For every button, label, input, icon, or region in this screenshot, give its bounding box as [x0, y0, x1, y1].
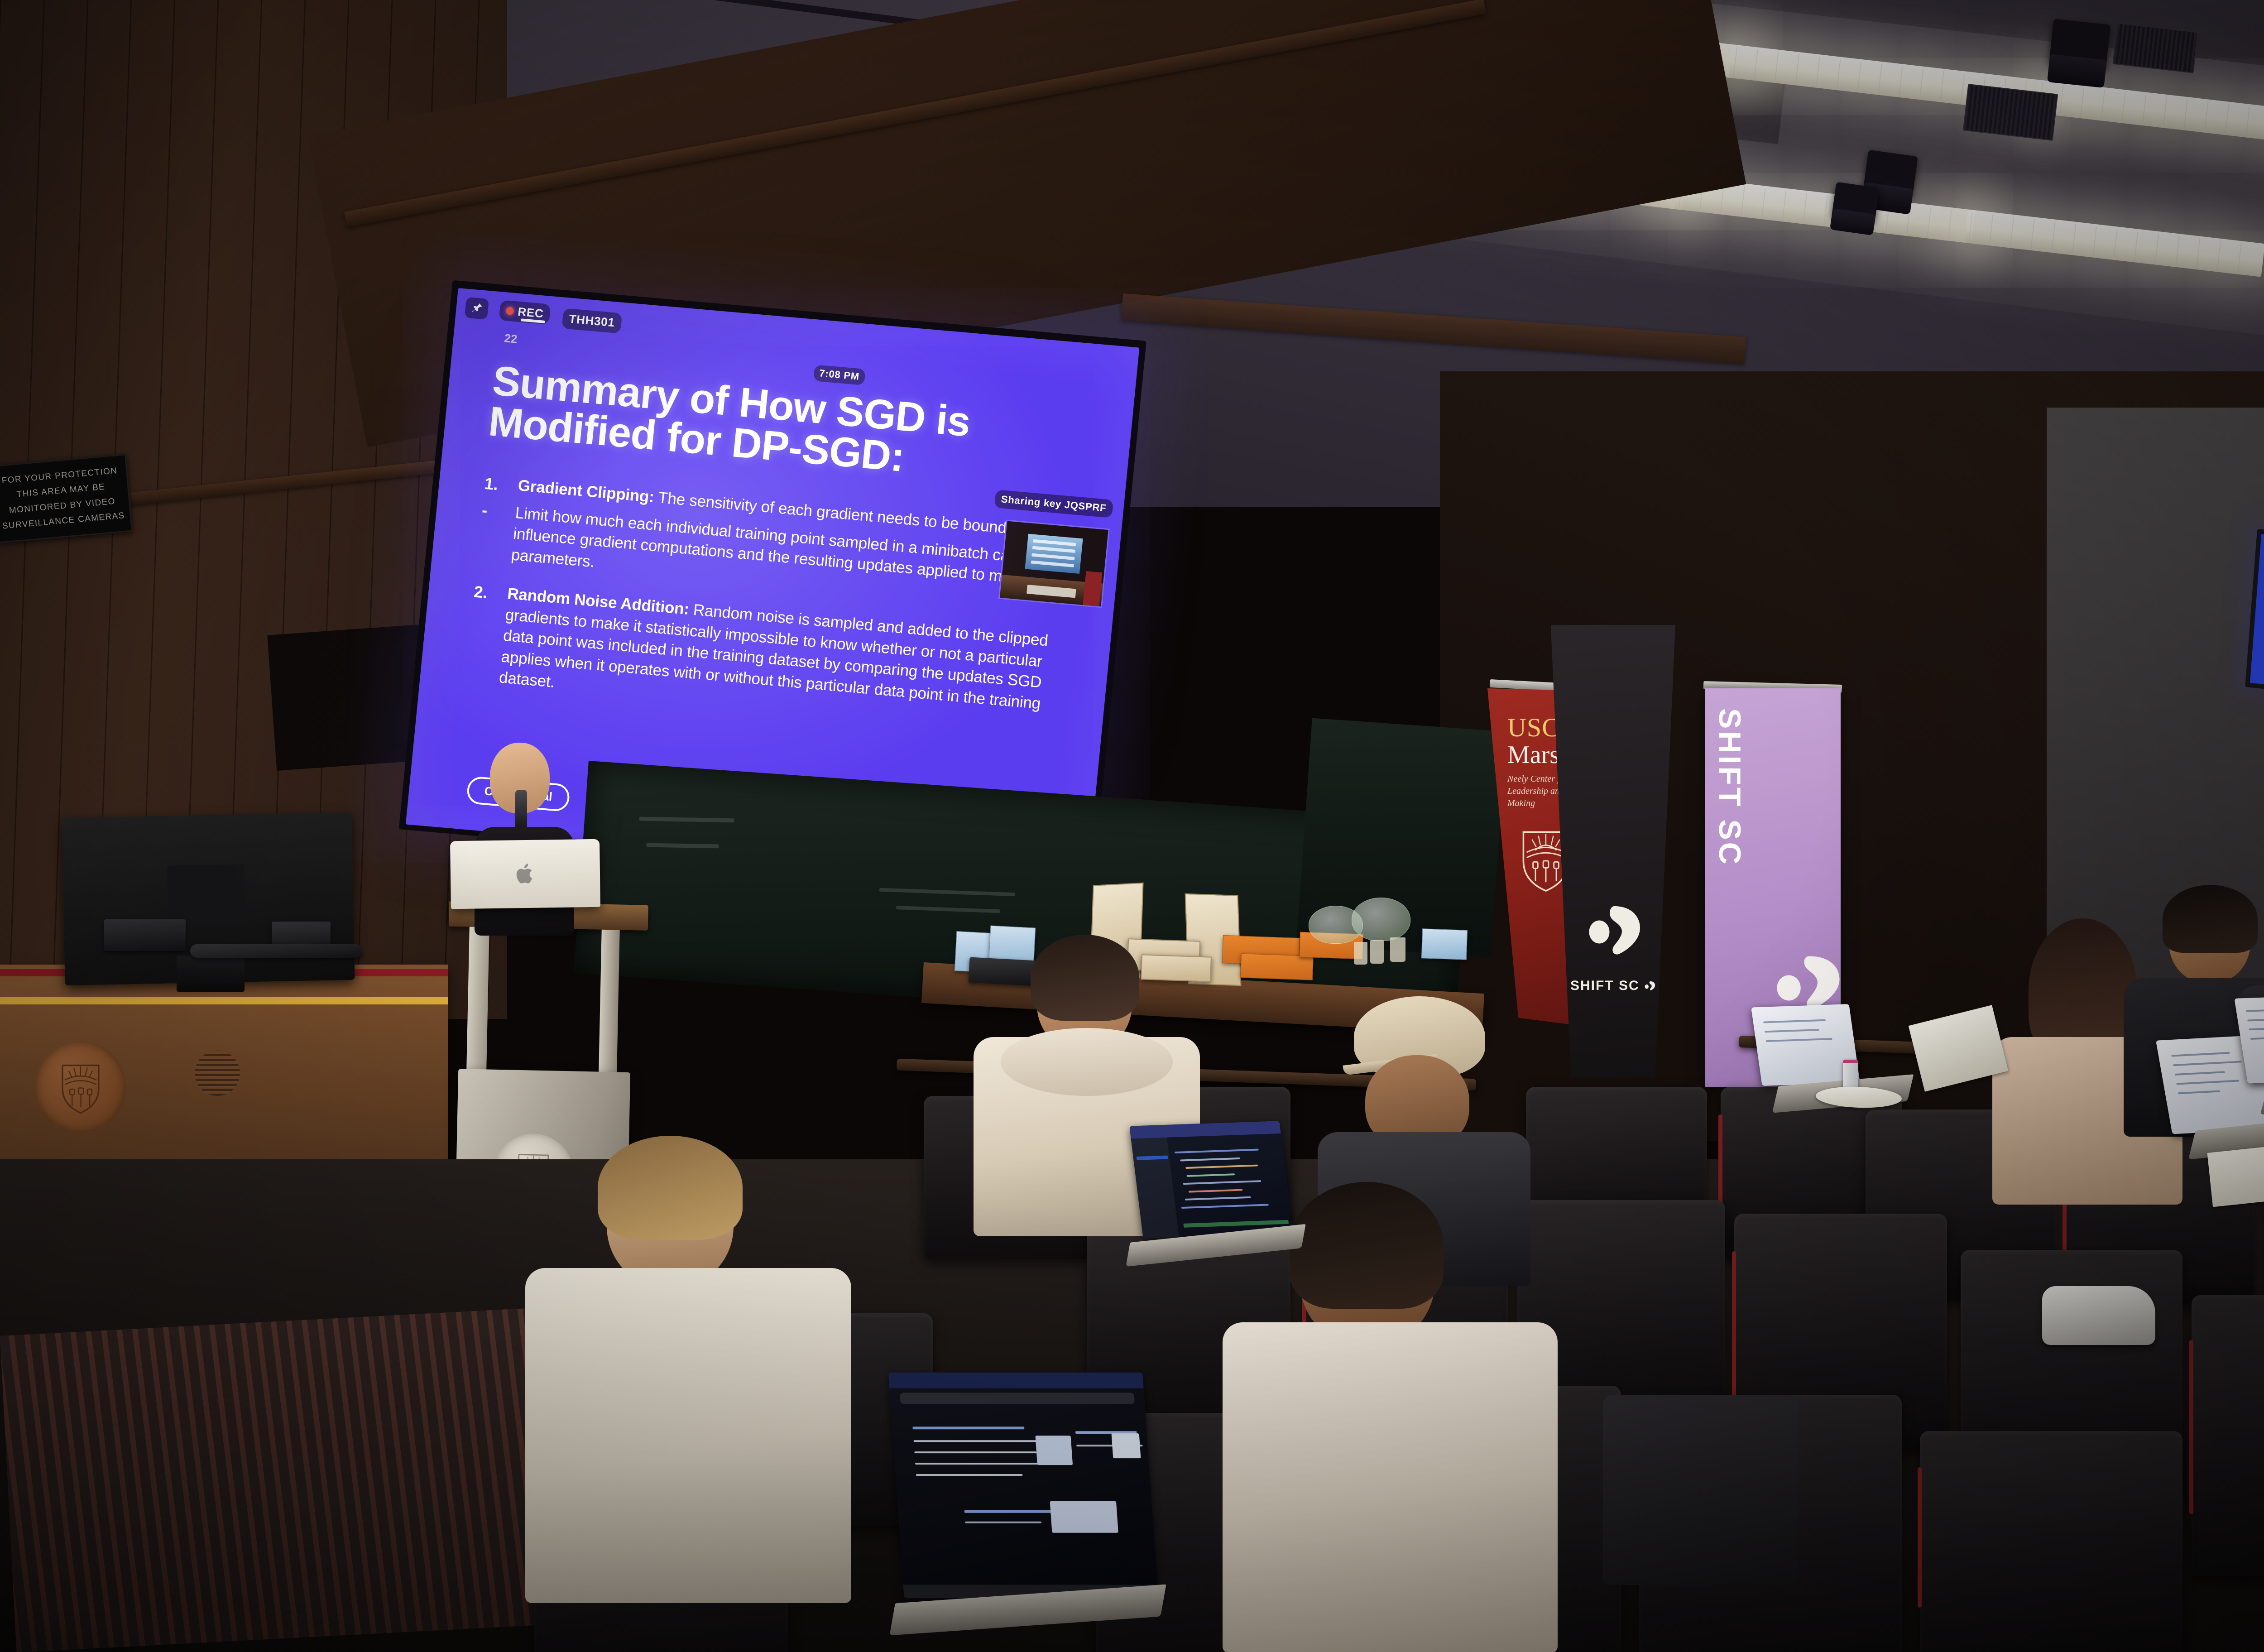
document-line — [1763, 1019, 1826, 1023]
person-hair — [598, 1136, 743, 1240]
record-dot-icon — [506, 307, 514, 315]
video-surveillance-sign: FOR YOUR PROTECTION THIS AREA MAY BE MON… — [0, 454, 133, 543]
shift-sc-black-label: SHIFT SC — [1570, 978, 1640, 994]
audience-laptop[interactable] — [1748, 1005, 1929, 1137]
chalk-writing — [879, 888, 1015, 896]
audience-member — [507, 1141, 878, 1603]
search-result-line — [965, 1522, 1041, 1523]
slide-page-number: 22 — [504, 331, 518, 346]
slide-body: 1. Gradient Clipping: The sensitivity of… — [463, 472, 1086, 756]
search-result-line — [914, 1451, 1036, 1453]
document-line — [2250, 1036, 2264, 1040]
document-line — [2178, 1090, 2220, 1094]
code-line — [1184, 1220, 1289, 1228]
monitor-vesa-mount — [167, 864, 245, 924]
lectern-column — [599, 930, 620, 1080]
person-hoodie — [525, 1268, 851, 1603]
browser-tabbar — [888, 1373, 1144, 1388]
code-line — [1186, 1173, 1234, 1177]
search-result-line — [915, 1463, 1042, 1465]
document-line — [2171, 1052, 2230, 1057]
search-result-line — [916, 1474, 1022, 1476]
hoodie-hood — [1001, 1028, 1173, 1096]
person-sweater — [1223, 1322, 1558, 1652]
editor-titlebar — [1129, 1121, 1281, 1138]
browser-addressbar[interactable] — [900, 1393, 1134, 1404]
editor-file-sidebar — [1131, 1137, 1180, 1239]
sharing-key-text: Sharing key JQSPRF — [1001, 493, 1107, 514]
av-cable-bundle — [190, 944, 362, 958]
code-line — [1175, 1149, 1259, 1153]
apple-logo-icon — [515, 861, 536, 887]
audience-laptop[interactable] — [2228, 996, 2264, 1141]
shift-sc-purple-wordmark: SHIFT SC — [1712, 708, 1747, 1066]
shift-sc-black-wordmark: SHIFT SC — [1570, 978, 1674, 994]
auditorium-seat[interactable] — [1920, 1431, 2182, 1652]
shift-sc-logo-icon — [1580, 897, 1648, 965]
room-badge-label: THH301 — [568, 312, 615, 330]
drink-cup — [1370, 940, 1384, 964]
clock-label: 7:08 PM — [819, 367, 860, 383]
thumb-screen — [1025, 534, 1083, 574]
pin-icon-chip[interactable] — [465, 297, 489, 320]
search-result-thumbnail — [1035, 1436, 1073, 1465]
bullet-rest: Random noise is sampled and added to the… — [499, 600, 1049, 712]
code-line — [1183, 1180, 1262, 1185]
bottled-water-case — [1421, 928, 1468, 960]
document-line — [2247, 1017, 2264, 1021]
document-line — [2246, 1008, 2264, 1012]
code-line — [1180, 1157, 1240, 1161]
presenter-macbook[interactable] — [450, 839, 600, 909]
desk-gold-stripe — [0, 997, 448, 1004]
monitor-stand — [177, 956, 245, 992]
code-line — [1185, 1196, 1251, 1201]
webcam-thumbnail[interactable] — [998, 519, 1110, 608]
document-line — [1764, 1029, 1819, 1032]
desk-speaker-grille-icon — [195, 1051, 240, 1096]
code-line — [1189, 1189, 1243, 1192]
laptop-screen[interactable] — [1129, 1121, 1293, 1239]
lecture-hall-photo: FOR YOUR PROTECTION THIS AREA MAY BE MON… — [0, 0, 2264, 1652]
chalk-writing — [639, 817, 734, 823]
document-line — [1765, 1038, 1832, 1042]
search-result-line — [913, 1440, 1046, 1442]
drink-cup — [1390, 937, 1405, 962]
laptop-screen[interactable] — [888, 1373, 1158, 1599]
drink-cup — [1354, 942, 1367, 965]
av-equipment-box — [104, 919, 186, 951]
backpack — [1603, 1395, 1798, 1585]
bullet-number: 1. — [484, 472, 509, 495]
thumb-accent — [1083, 571, 1102, 606]
video-thumbnail — [1050, 1501, 1118, 1533]
auditorium-seat[interactable] — [2192, 1295, 2264, 1576]
bullet-dash: - — [477, 499, 506, 565]
spotlight-housing — [2047, 54, 2107, 88]
sneaker — [2042, 1286, 2155, 1345]
shift-sc-mark-small-icon — [1644, 980, 1656, 992]
track-spotlight — [1832, 182, 1880, 222]
bullet-lead: Gradient Clipping: — [517, 476, 655, 506]
lectern-column — [466, 927, 489, 1077]
bullet-number: 2. — [465, 581, 499, 687]
chalk-writing — [896, 906, 1000, 913]
knowledge-panel-image — [1111, 1433, 1141, 1458]
room-badge[interactable]: THH301 — [561, 308, 622, 333]
slide-title: Summary of How SGD is Modified for DP-SG… — [487, 360, 1050, 490]
audience-laptop[interactable] — [887, 1368, 1186, 1639]
code-line — [1185, 1165, 1257, 1169]
document-line — [2249, 1027, 2264, 1031]
salad-bowl — [1352, 898, 1410, 941]
recording-badge[interactable]: REC — [499, 300, 551, 324]
laptop-screen[interactable] — [2234, 995, 2264, 1083]
location-pin-icon — [469, 301, 484, 315]
track-spotlight — [2049, 19, 2111, 70]
document-line — [2174, 1071, 2225, 1076]
person-hair — [1031, 935, 1139, 1021]
audience-laptop[interactable] — [1123, 1123, 1313, 1286]
clock-badge: 7:08 PM — [813, 365, 866, 385]
code-line — [1181, 1204, 1268, 1209]
food-tray — [1240, 953, 1314, 980]
av-control-desk — [0, 965, 448, 1164]
search-result-line — [964, 1510, 1056, 1513]
sharing-key-badge: Sharing key JQSPRF — [994, 490, 1113, 518]
usc-seal-medallion-icon — [35, 1042, 126, 1132]
chalk-writing — [646, 843, 719, 849]
search-result-line — [912, 1426, 1024, 1429]
